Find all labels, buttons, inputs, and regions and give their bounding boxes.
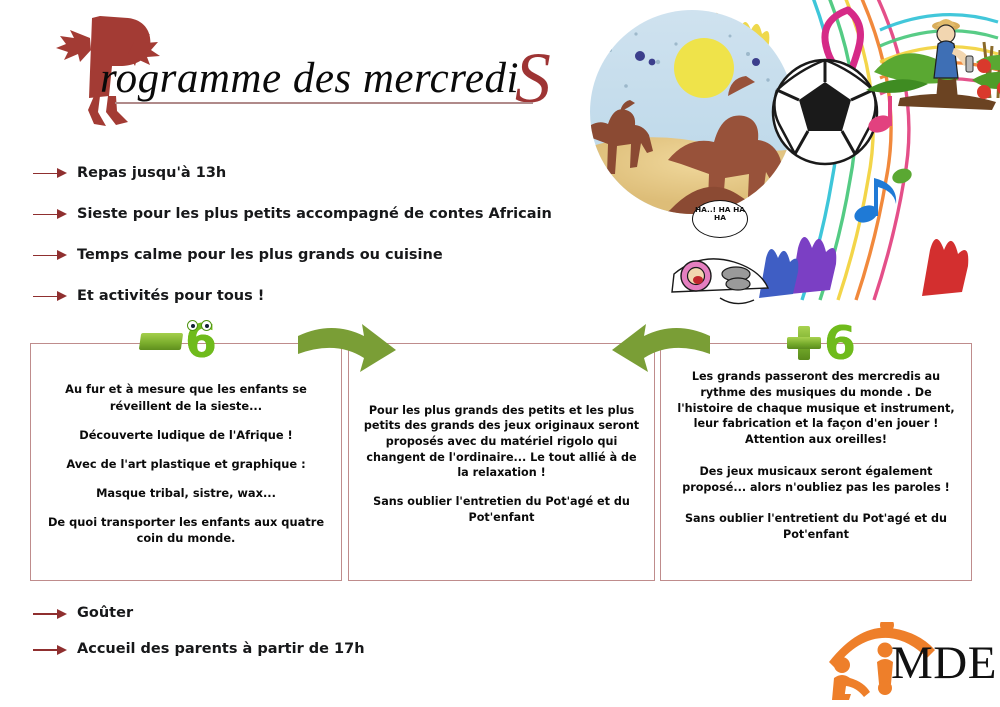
treble-clef-icon [825, 10, 868, 128]
handprint-icon [690, 11, 769, 67]
list-item-label: Sieste pour les plus petits accompagné d… [77, 206, 552, 222]
activity-box-under-six: Au fur et à mesure que les enfants se ré… [30, 343, 342, 581]
list-item: Temps calme pour les plus grands ou cuis… [33, 234, 553, 275]
box-paragraph: Sans oublier l'entretient du Pot'agé et … [673, 511, 959, 542]
list-item-label: Goûter [77, 605, 133, 621]
camel-desert-circle-icon [580, 10, 820, 228]
decor-collage [580, 0, 1000, 320]
list-item: Goûter [33, 595, 553, 631]
plus-sign-icon [787, 326, 821, 360]
box-paragraph: Avec de l'art plastique et graphique : [43, 456, 329, 472]
title-main-text: rogramme des mercredi [100, 55, 519, 102]
arrow-right-icon [33, 290, 69, 302]
music-note-icon [890, 166, 914, 186]
age-number-value: 6 [824, 320, 856, 366]
list-item-label: Repas jusqu'à 13h [77, 165, 226, 181]
minus-sign-icon [139, 333, 183, 350]
soccer-ball-icon [773, 60, 877, 164]
curved-arrow-left-icon [600, 322, 710, 378]
mde-logo: MDE [825, 622, 985, 702]
list-item: Sieste pour les plus petits accompagné d… [33, 193, 553, 234]
collage-artwork [580, 0, 1000, 320]
laughing-character-icon [672, 259, 768, 304]
music-note-icon [852, 178, 896, 226]
handprint-icon [759, 237, 968, 298]
schedule-bottom-list: Goûter Accueil des parents à partir de 1… [33, 595, 553, 667]
arrow-right-icon [33, 643, 69, 655]
schedule-top-list: Repas jusqu'à 13h Sieste pour les plus p… [33, 152, 553, 316]
box-paragraph: Les grands passeront des mercredis au ry… [673, 369, 959, 447]
arrow-right-icon [33, 249, 69, 261]
box-paragraph: Sans oublier l'entretien du Pot'agé et d… [361, 494, 642, 525]
eye-icon [187, 320, 198, 331]
arrow-right-icon [33, 607, 69, 619]
box-paragraph: Au fur et à mesure que les enfants se ré… [43, 381, 329, 413]
activity-box-over-six: Les grands passeront des mercredis au ry… [660, 343, 972, 581]
camel-icon [582, 100, 653, 174]
eye-icon [201, 320, 212, 331]
box-paragraph: De quoi transporter les enfants aux quat… [43, 514, 329, 546]
arrow-right-icon [33, 167, 69, 179]
box-paragraph: Masque tribal, sistre, wax... [43, 485, 329, 501]
age-number: 6 [185, 318, 217, 364]
title-underline [115, 102, 533, 104]
music-staff-icon [802, 0, 909, 300]
box-paragraph: Pour les plus grands des petits et les p… [361, 403, 642, 481]
arrow-right-icon [33, 208, 69, 220]
gardener-icon [866, 19, 1000, 110]
title-wordmark: rogramme des mercrediS [100, 54, 555, 103]
title-final-letter: S [515, 38, 552, 118]
laugh-speech-bubble: HA..! HA HA HA [692, 200, 748, 238]
list-item: Et activités pour tous ! [33, 275, 553, 316]
age-badge-over-six: 6 [787, 320, 856, 366]
poster-page: rogramme des mercrediS [0, 0, 1000, 707]
list-item-label: Accueil des parents à partir de 17h [77, 641, 365, 657]
activity-box-middle: Pour les plus grands des petits et les p… [348, 343, 655, 581]
page-title: rogramme des mercrediS [30, 10, 590, 130]
list-item: Accueil des parents à partir de 17h [33, 631, 553, 667]
list-item-label: Et activités pour tous ! [77, 288, 264, 304]
box-paragraph: Découverte ludique de l'Afrique ! [43, 427, 329, 443]
music-note-icon [866, 96, 894, 136]
list-item-label: Temps calme pour les plus grands ou cuis… [77, 247, 443, 263]
list-item: Repas jusqu'à 13h [33, 152, 553, 193]
box-paragraph: Des jeux musicaux seront également propo… [673, 464, 959, 495]
age-badge-under-six: 6 [140, 318, 217, 364]
curved-arrow-right-icon [298, 322, 408, 378]
logo-text: MDE [891, 640, 997, 687]
